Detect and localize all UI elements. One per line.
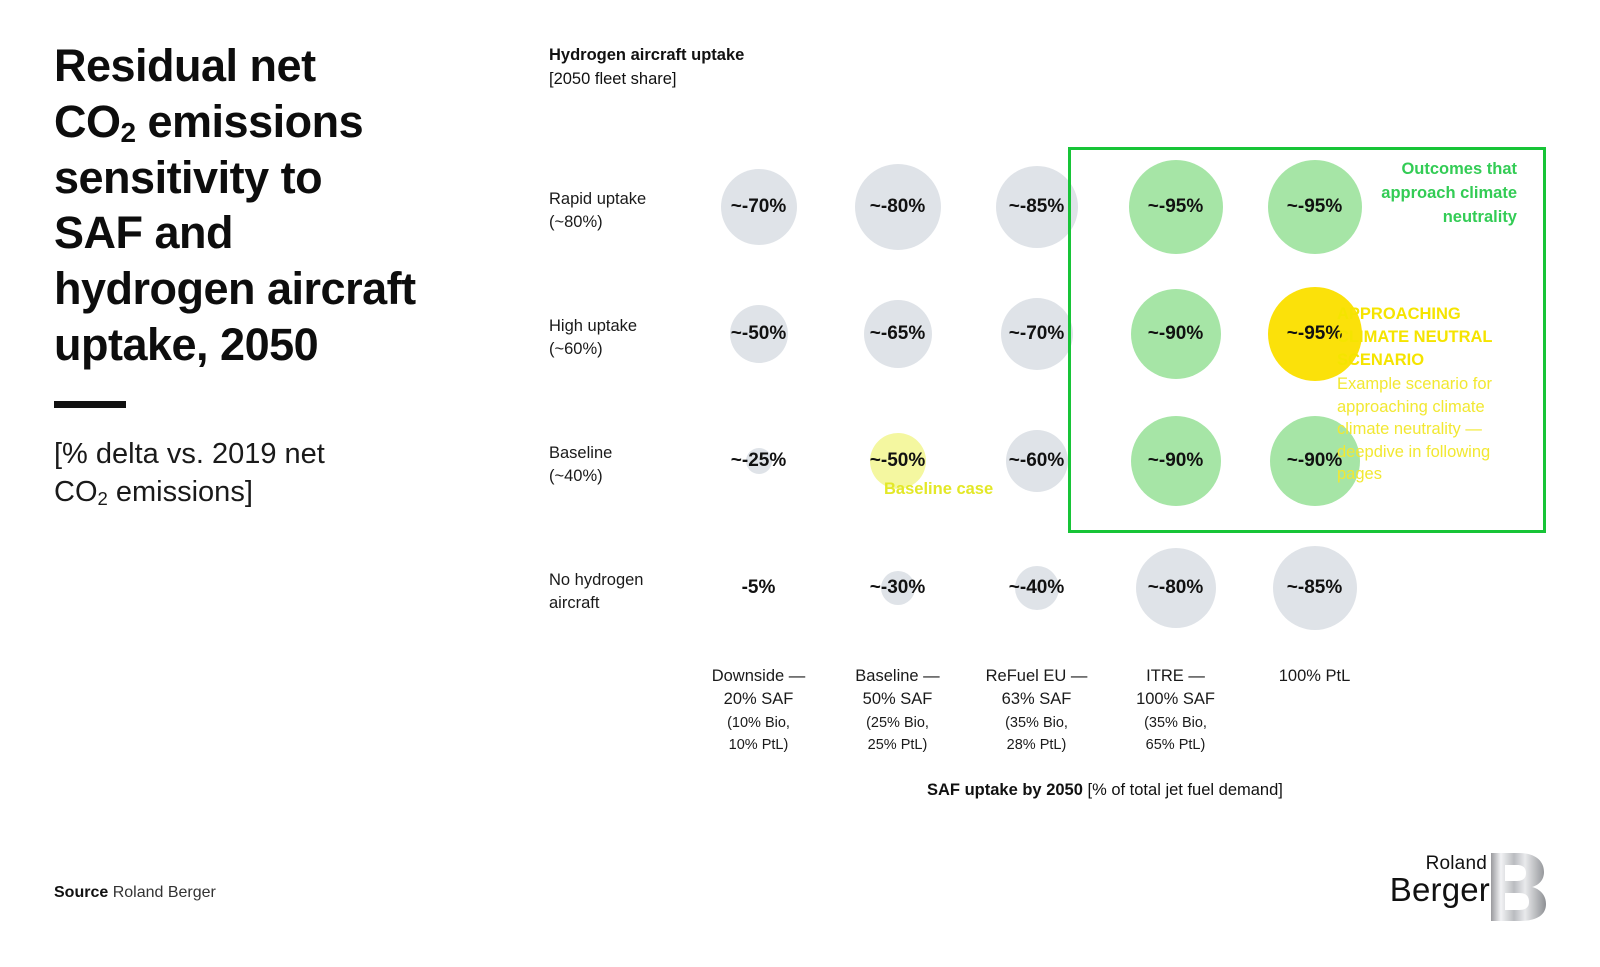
row-label-baseline: Baseline(~40%) — [549, 442, 701, 488]
row-label-line-1: Rapid uptake — [549, 190, 646, 208]
column-label-line-1: 100% PtL — [1279, 667, 1351, 685]
column-label-refuel-eu: ReFuel EU —63% SAF(35% Bio,28% PtL) — [967, 665, 1106, 756]
column-label-100-ptl: 100% PtL — [1245, 665, 1384, 688]
column-label-line-1: Baseline — — [855, 667, 939, 685]
row-label-line-2: (~80%) — [549, 213, 603, 231]
column-label-line-3: (35% Bio, — [1144, 715, 1207, 731]
bubble-value-label: ~-70% — [731, 196, 786, 218]
row-label-line-2: (~60%) — [549, 340, 603, 358]
bubble-value-label: ~-70% — [1009, 323, 1064, 345]
matrix-cell[interactable]: ~-40% — [967, 541, 1106, 668]
title-line-1: Residual net — [54, 40, 316, 91]
matrix-cell[interactable]: ~-70% — [689, 160, 828, 287]
column-label-line-4: 28% PtL) — [1007, 737, 1067, 753]
column-label-downside: Downside —20% SAF(10% Bio,10% PtL) — [689, 665, 828, 756]
annotation-approaching-climate-neutral: APPROACHING CLIMATE NEUTRAL SCENARIO Exa… — [1337, 303, 1517, 485]
matrix-cell[interactable]: ~-70% — [967, 287, 1106, 414]
column-label-line-2: 20% SAF — [724, 690, 794, 708]
bubble-value-label: ~-65% — [870, 323, 925, 345]
title-line-4: SAF and — [54, 207, 233, 258]
column-label-line-1: Downside — — [712, 667, 806, 685]
column-label-line-3: (35% Bio, — [1005, 715, 1068, 731]
matrix-cell[interactable]: ~-30% — [828, 541, 967, 668]
bubble-value-label: ~-40% — [1009, 577, 1064, 599]
row-label-high-uptake: High uptake(~60%) — [549, 315, 701, 361]
column-label-line-4: 25% PtL) — [868, 737, 928, 753]
roland-berger-logo: Roland Berger — [1367, 851, 1547, 925]
matrix-cell[interactable]: ~-90% — [1106, 414, 1245, 541]
row-label-line-1: High uptake — [549, 317, 637, 335]
annotation-heading: APPROACHING CLIMATE NEUTRAL SCENARIO — [1337, 303, 1517, 372]
title-line-2-a: CO — [54, 96, 121, 147]
bubble-value-label: ~-50% — [870, 450, 925, 472]
column-label-line-1: ReFuel EU — — [986, 667, 1088, 685]
column-label-line-2: 100% SAF — [1136, 690, 1215, 708]
co2-subscript: 2 — [121, 117, 136, 148]
bubble-value-label: ~-90% — [1287, 450, 1342, 472]
y-axis-title: Hydrogen aircraft uptake — [549, 46, 744, 65]
bubble-value-label: ~-95% — [1148, 196, 1203, 218]
bubble-value-label: ~-85% — [1287, 577, 1342, 599]
matrix-cell[interactable]: ~-65% — [828, 287, 967, 414]
y-axis-unit: [2050 fleet share] — [549, 70, 744, 89]
row-label-no-hydrogen-aircraft: No hydrogenaircraft — [549, 569, 701, 615]
page-title: Residual net CO2 emissions sensitivity t… — [54, 38, 484, 373]
column-label-line-3: (25% Bio, — [866, 715, 929, 731]
matrix-cell[interactable]: ~-95% — [1106, 160, 1245, 287]
matrix-cell[interactable]: ~-90% — [1106, 287, 1245, 414]
bubble-value-label: ~-60% — [1009, 450, 1064, 472]
matrix-cell[interactable]: ~-80% — [828, 160, 967, 287]
row-label-line-2: (~40%) — [549, 467, 603, 485]
slide-canvas: Residual net CO2 emissions sensitivity t… — [0, 0, 1600, 967]
page-subtitle: [% delta vs. 2019 net CO2 emissions] — [54, 435, 484, 512]
subtitle-line-2-a: CO — [54, 476, 98, 508]
bubble-value-label: ~-80% — [870, 196, 925, 218]
bubble-value-label: ~-90% — [1148, 450, 1203, 472]
title-line-5: hydrogen aircraft — [54, 263, 416, 314]
matrix-cell[interactable]: ~-80% — [1106, 541, 1245, 668]
x-axis-caption-bold: SAF uptake by 2050 — [927, 781, 1083, 799]
source-value: Roland Berger — [108, 884, 216, 901]
column-label-line-4: 65% PtL) — [1146, 737, 1206, 753]
subtitle-line-2-b: emissions] — [108, 476, 253, 508]
row-label-line-2: aircraft — [549, 594, 599, 612]
x-axis-caption: SAF uptake by 2050 [% of total jet fuel … — [927, 781, 1283, 800]
annotation-baseline-case: Baseline case — [884, 478, 1004, 501]
bubble-value-label: ~-80% — [1148, 577, 1203, 599]
title-line-6: uptake, 2050 — [54, 319, 318, 370]
column-label-line-3: (10% Bio, — [727, 715, 790, 731]
bubble-value-label: ~-50% — [731, 323, 786, 345]
row-label-line-1: No hydrogen — [549, 571, 643, 589]
matrix-cell[interactable]: ~-85% — [967, 160, 1106, 287]
row-label-rapid-uptake: Rapid uptake(~80%) — [549, 188, 701, 234]
bubble-value-label: ~-95% — [1287, 196, 1342, 218]
matrix-cell[interactable]: -5% — [689, 541, 828, 668]
matrix-cell[interactable]: ~-50% — [689, 287, 828, 414]
title-block: Residual net CO2 emissions sensitivity t… — [54, 38, 484, 511]
bubble-value-label: ~-25% — [731, 450, 786, 472]
column-label-baseline: Baseline —50% SAF(25% Bio,25% PtL) — [828, 665, 967, 756]
bubble-value-label: -5% — [742, 577, 776, 599]
column-label-line-2: 63% SAF — [1002, 690, 1072, 708]
annotation-body: Example scenario for approaching climate… — [1337, 373, 1517, 485]
co2-subscript-sub: 2 — [98, 488, 108, 509]
title-line-3: sensitivity to — [54, 152, 322, 203]
source-note: Source Roland Berger — [54, 884, 216, 902]
bubble-value-label: ~-95% — [1287, 323, 1342, 345]
y-axis-header: Hydrogen aircraft uptake [2050 fleet sha… — [549, 46, 744, 89]
annotation-outcomes-approach-neutrality: Outcomes that approach climate neutralit… — [1345, 158, 1517, 230]
bubble-value-label: ~-85% — [1009, 196, 1064, 218]
source-label: Source — [54, 884, 108, 901]
matrix-cell[interactable]: ~-25% — [689, 414, 828, 541]
column-label-line-4: 10% PtL) — [729, 737, 789, 753]
row-label-line-1: Baseline — [549, 444, 612, 462]
column-label-itre: ITRE —100% SAF(35% Bio,65% PtL) — [1106, 665, 1245, 756]
logo-b-mark-icon — [1489, 851, 1547, 923]
x-axis-caption-rest: [% of total jet fuel demand] — [1083, 781, 1283, 799]
title-divider — [54, 401, 126, 408]
column-label-line-2: 50% SAF — [863, 690, 933, 708]
subtitle-line-1: [% delta vs. 2019 net — [54, 438, 325, 470]
title-line-2-b: emissions — [136, 96, 364, 147]
logo-text-berger: Berger — [1390, 871, 1490, 909]
bubble-value-label: ~-30% — [870, 577, 925, 599]
column-label-line-1: ITRE — — [1146, 667, 1205, 685]
bubble-value-label: ~-90% — [1148, 323, 1203, 345]
matrix-cell[interactable]: ~-85% — [1245, 541, 1384, 668]
